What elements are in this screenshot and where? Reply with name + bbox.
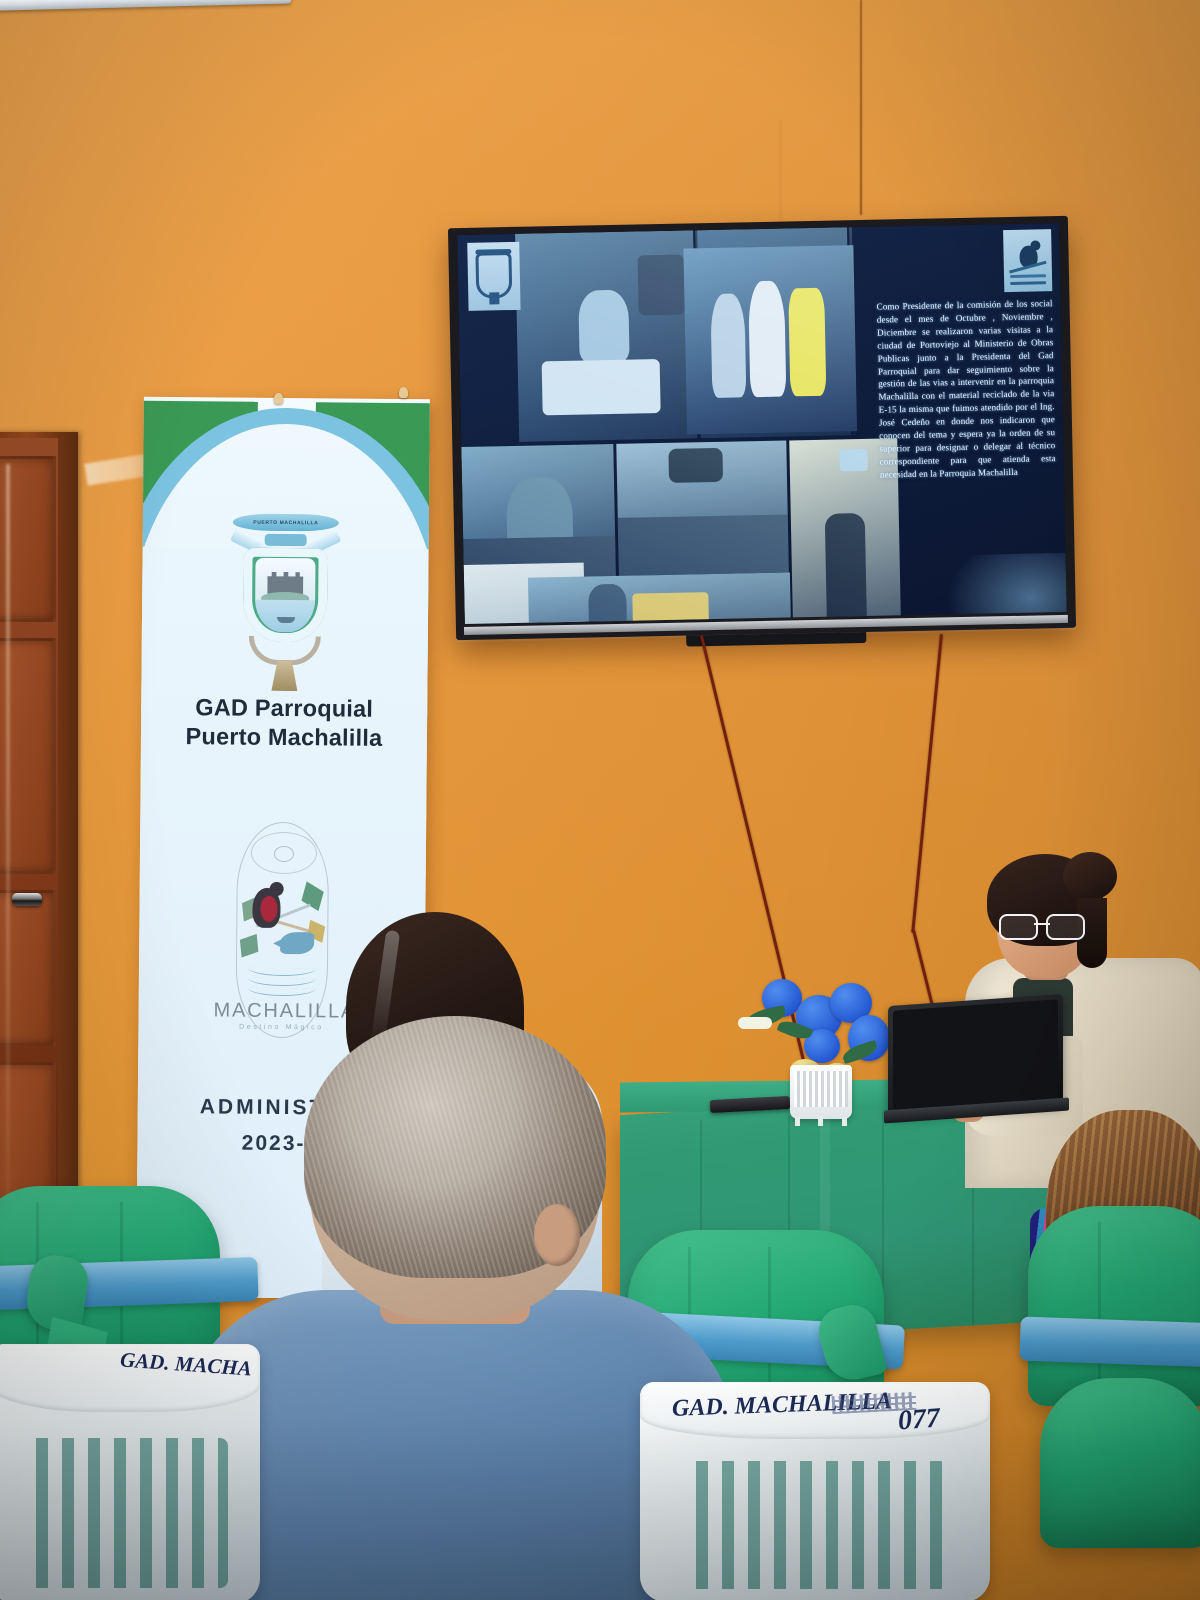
chair-number: 077 <box>897 1403 941 1438</box>
banner-title-line1: GAD Parroquial <box>141 693 427 724</box>
wall-mounted-tv[interactable]: Como Presidente de la comisión de los so… <box>448 216 1076 640</box>
flower-vase <box>790 1065 852 1119</box>
chair-sash <box>1019 1317 1200 1368</box>
slide-photo <box>616 441 789 576</box>
slide-photo-grid <box>457 227 882 624</box>
laptop[interactable] <box>888 1000 1063 1120</box>
slide-body-text: Como Presidente de la comisión de los so… <box>876 297 1060 481</box>
door-frame <box>0 432 78 1222</box>
presentation-slide: Como Presidente de la comisión de los so… <box>457 223 1067 624</box>
person-seated-elderly-man <box>248 1008 668 1600</box>
machalilla-logo-icon <box>1003 229 1052 292</box>
chair-front-left[interactable] <box>0 1344 260 1600</box>
banner-title: GAD Parroquial Puerto Machalilla <box>141 693 427 753</box>
door-highlight <box>6 464 10 1204</box>
wooden-door[interactable] <box>0 438 58 1218</box>
tv-bezel: Como Presidente de la comisión de los so… <box>457 223 1067 624</box>
chair-cover <box>1040 1378 1200 1548</box>
banner-peg <box>399 387 408 398</box>
screen-glare <box>946 553 1067 624</box>
banner-peg <box>274 393 283 404</box>
slide-photo <box>528 572 792 624</box>
banner-title-line2: Puerto Machalilla <box>141 721 427 752</box>
door-handle-icon[interactable] <box>12 893 42 906</box>
slide-photo <box>461 444 616 579</box>
meeting-room-photo: Como Presidente de la comisión de los so… <box>0 0 1200 1600</box>
chair-cover <box>1028 1206 1200 1406</box>
crest-ribbon-text: PUERTO MACHALILLA <box>233 514 339 532</box>
slide-photo <box>515 230 697 442</box>
coat-of-arms-icon <box>467 242 520 311</box>
coat-of-arms-icon: PUERTO MACHALILLA <box>225 507 345 693</box>
eyeglasses-icon <box>999 914 1085 936</box>
machalilla-brand-logo-icon: MACHALILLA Destino Mágico <box>235 822 329 1039</box>
slide-photo <box>683 245 857 434</box>
